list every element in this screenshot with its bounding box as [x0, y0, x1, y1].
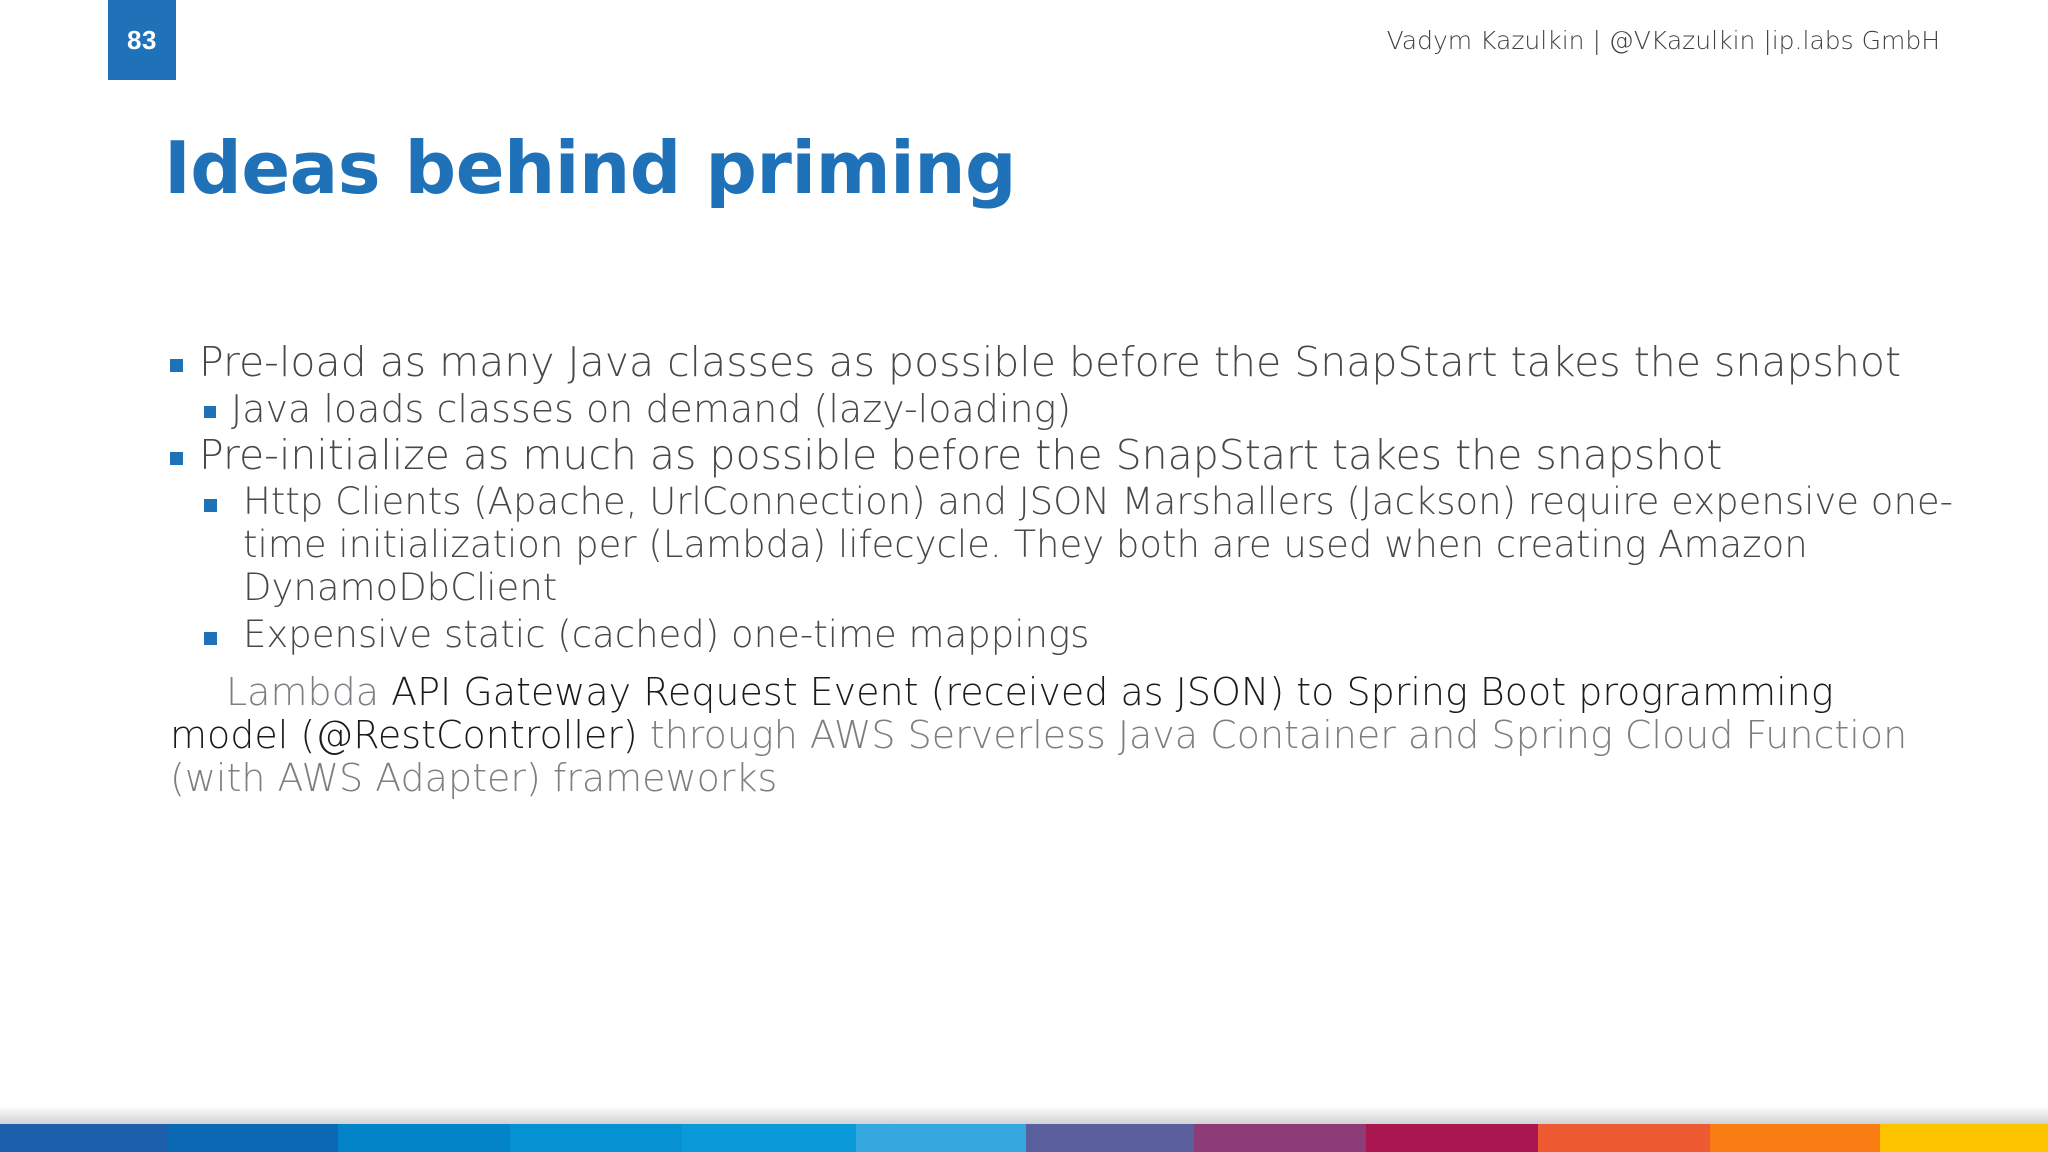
bullet-marker-icon — [204, 499, 217, 512]
bullet-marker-icon — [170, 452, 183, 465]
page-number-label: 83 — [127, 25, 157, 56]
segment-cyan-blue — [682, 1124, 856, 1152]
footer-shadow — [0, 1106, 2048, 1124]
bullet-text: Http Clients (Apache, UrlConnection) and… — [243, 481, 1960, 610]
bullet-marker-icon — [204, 632, 217, 645]
bullet-item: Pre-initialize as much as possible befor… — [170, 433, 1960, 479]
bullet-marker-icon — [204, 406, 216, 418]
segment-blue-bright — [510, 1124, 682, 1152]
segment-orange-red — [1538, 1124, 1710, 1152]
bullet-item: Http Clients (Apache, UrlConnection) and… — [204, 481, 1960, 610]
bullet-marker-icon — [170, 359, 183, 372]
bullet-item: Expensive static (cached) one-time mappi… — [204, 614, 1960, 657]
segment-royal-blue — [0, 1124, 168, 1152]
footer-color-bar — [0, 1124, 2048, 1152]
segment-crimson — [1366, 1124, 1538, 1152]
final-paragraph-part-light-lead: Lambda — [226, 670, 391, 714]
page-title: Ideas behind priming — [164, 132, 1016, 204]
segment-slate-violet — [1026, 1124, 1194, 1152]
page-number-badge: 83 — [108, 0, 176, 80]
segment-orange — [1710, 1124, 1880, 1152]
slide-body: Pre-load as many Java classes as possibl… — [170, 340, 1960, 801]
bullet-text: Expensive static (cached) one-time mappi… — [243, 614, 1960, 657]
bullet-item: Java loads classes on demand (lazy-loadi… — [204, 388, 1960, 431]
segment-blue — [168, 1124, 338, 1152]
segment-plum — [1194, 1124, 1366, 1152]
bullet-item: Pre-load as many Java classes as possibl… — [170, 340, 1960, 386]
segment-blue-mid — [338, 1124, 510, 1152]
bullet-text: Pre-initialize as much as possible befor… — [199, 433, 1960, 479]
final-paragraph: Lambda API Gateway Request Event (receiv… — [170, 671, 1960, 801]
segment-yellow — [1880, 1124, 2048, 1152]
bullet-text: Java loads classes on demand (lazy-loadi… — [231, 388, 1960, 431]
bullet-text: Pre-load as many Java classes as possibl… — [199, 340, 1960, 386]
slide: 83 Vadym Kazulkin | @VKazulkin |ip.labs … — [0, 0, 2048, 1152]
segment-light-blue — [856, 1124, 1026, 1152]
header-credit: Vadym Kazulkin | @VKazulkin |ip.labs Gmb… — [1387, 26, 1940, 55]
